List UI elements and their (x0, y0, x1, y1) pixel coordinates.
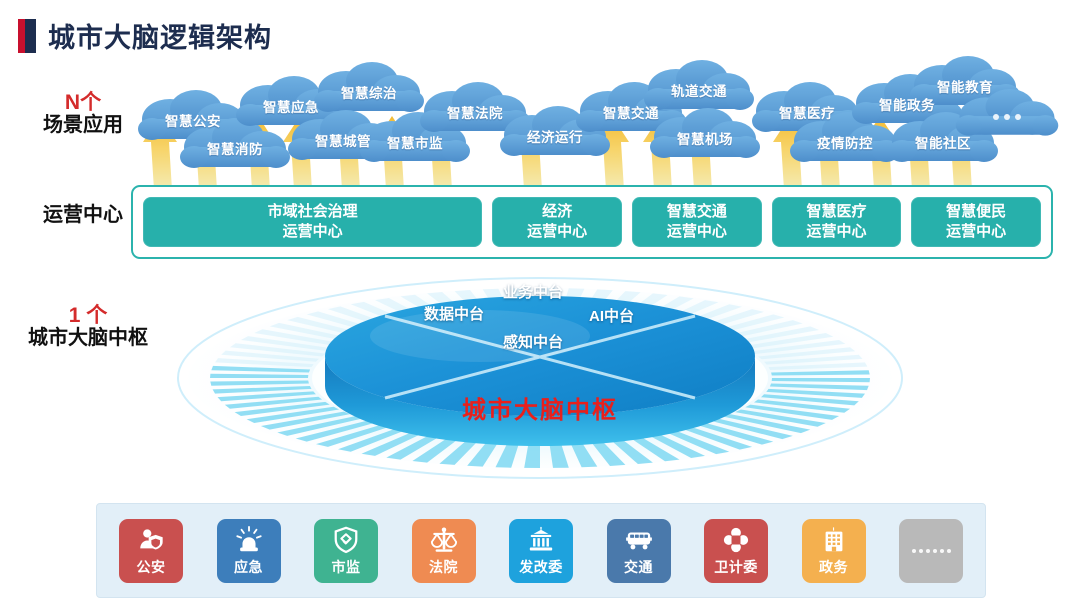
axis-label-brain-name: 城市大脑中枢 (8, 327, 168, 350)
ops-box-1-line1: 经济 (527, 202, 587, 222)
operation-center-band: 市域社会治理 运营中心 经济 运营中心 智慧交通 运营中心 智慧医疗 运营中心 … (131, 185, 1053, 259)
siren-icon (235, 524, 263, 554)
scene-cloud-label: 智慧城管 (315, 130, 371, 150)
department-tile-label: 交通 (624, 557, 653, 577)
shield-check-icon (332, 524, 360, 554)
page-header: 城市大脑逻辑架构 (18, 16, 272, 55)
cloud-ellipsis-icon (993, 114, 1021, 120)
scene-cloud-label: 智慧应急 (263, 96, 319, 116)
ops-center-box-2[interactable]: 智慧交通 运营中心 (632, 197, 762, 247)
ops-center-box-4[interactable]: 智慧便民 运营中心 (911, 197, 1041, 247)
scene-cloud-label: 智慧法院 (447, 102, 503, 122)
department-tile-label: 市监 (332, 557, 361, 577)
government-building-icon (527, 524, 555, 554)
scene-cloud-label: 智能教育 (937, 76, 993, 96)
department-tile[interactable]: 卫计委 (704, 519, 768, 583)
office-building-icon (820, 524, 848, 554)
ops-box-2-line2: 运营中心 (667, 222, 727, 242)
scene-cloud-label: 疫情防控 (817, 132, 873, 152)
scene-cloud-label: 智慧交通 (603, 102, 659, 122)
scene-cloud-label: 智慧消防 (207, 138, 263, 158)
department-tile-label: 政务 (819, 557, 848, 577)
scene-cloud[interactable]: 智慧机场 (646, 107, 764, 169)
more-dots-icon (912, 519, 951, 583)
scene-cloud-label: 智能政务 (879, 94, 935, 114)
disk-label-data-midplatform: 数据中台 (424, 303, 484, 324)
department-tile-label: 法院 (429, 557, 458, 577)
department-tile[interactable]: 发改委 (509, 519, 573, 583)
department-tile[interactable]: 法院 (412, 519, 476, 583)
ops-center-box-1[interactable]: 经济 运营中心 (492, 197, 622, 247)
department-tile[interactable]: 市监 (314, 519, 378, 583)
department-tile[interactable]: 交通 (607, 519, 671, 583)
scene-cloud-label: 智慧市监 (387, 132, 443, 152)
disk-label-business-midplatform: 业务中台 (503, 281, 563, 302)
department-tile-label: 应急 (234, 557, 263, 577)
department-tile-label: 公安 (137, 557, 166, 577)
ops-box-3-line2: 运营中心 (806, 222, 866, 242)
department-tile-label: 发改委 (519, 557, 563, 577)
ops-center-box-0[interactable]: 市域社会治理 运营中心 (143, 197, 482, 247)
title-marker-icon (18, 19, 36, 53)
disk-label-ai-midplatform: AI中台 (589, 305, 634, 326)
scene-cloud-label: 轨道交通 (671, 80, 727, 100)
disk-label-perception-midplatform: 感知中台 (503, 331, 563, 352)
scene-cloud-label: 智能社区 (915, 132, 971, 152)
ops-box-4-line1: 智慧便民 (946, 202, 1006, 222)
department-tile[interactable]: 公安 (119, 519, 183, 583)
scene-application-clouds: 智慧公安智慧消防智慧应急智慧综治智慧城管智慧市监智慧法院经济运行智慧交通轨道交通… (0, 55, 1080, 190)
department-tile[interactable] (899, 519, 963, 583)
scene-cloud-label: 智慧机场 (677, 128, 733, 148)
department-tile[interactable]: 应急 (217, 519, 281, 583)
scales-icon (430, 524, 458, 554)
axis-label-brain-count: 1 个 (8, 305, 168, 327)
department-tile[interactable]: 政务 (802, 519, 866, 583)
axis-label-operation-center: 运营中心 (18, 204, 148, 227)
page-title: 城市大脑逻辑架构 (48, 16, 272, 55)
health-cross-icon (722, 524, 750, 554)
department-tile-label: 卫计委 (714, 557, 758, 577)
ops-box-2-line1: 智慧交通 (667, 202, 727, 222)
ops-box-0-line1: 市域社会治理 (268, 202, 358, 222)
ops-box-3-line1: 智慧医疗 (806, 202, 866, 222)
bus-icon (625, 524, 653, 554)
ops-box-1-line2: 运营中心 (527, 222, 587, 242)
police-icon (137, 524, 165, 554)
scene-cloud-label: 智慧公安 (165, 110, 221, 130)
hub-caption: 城市大脑中枢 (0, 390, 1080, 425)
scene-cloud-label: 智慧综治 (341, 82, 397, 102)
ops-box-0-line2: 运营中心 (268, 222, 358, 242)
axis-label-city-brain-hub: 1 个 城市大脑中枢 (8, 305, 168, 350)
scene-cloud-label: 经济运行 (527, 126, 583, 146)
ops-box-4-line2: 运营中心 (946, 222, 1006, 242)
department-panel: 公安应急市监法院发改委交通卫计委政务 (96, 503, 986, 598)
ops-center-box-3[interactable]: 智慧医疗 运营中心 (772, 197, 902, 247)
axis-label-ops-name: 运营中心 (18, 204, 148, 227)
scene-cloud-label: 智慧医疗 (779, 102, 835, 122)
